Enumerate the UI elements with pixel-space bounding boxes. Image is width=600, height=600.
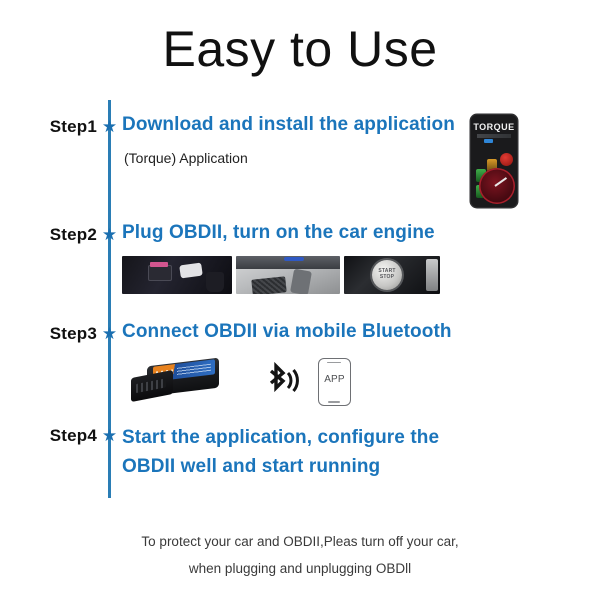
torque-main-dial <box>479 168 515 204</box>
obd-connector-plug <box>131 370 173 402</box>
step-subtext-1: (Torque) Application <box>124 150 248 166</box>
torque-gauge-red-small <box>500 153 513 166</box>
easy-to-use-infographic: Easy to Use ★ ★ ★ ★ Step1 Download and i… <box>0 0 600 600</box>
obd-label-text-lines <box>177 364 211 376</box>
console-cup-holder <box>206 272 224 292</box>
step-headline-1: Download and install the application <box>122 114 455 136</box>
obd-port-pink-tag <box>150 262 168 267</box>
star-icon: ★ <box>101 325 118 342</box>
car-obd-port-photo <box>122 256 232 294</box>
console-trim <box>426 259 438 291</box>
step-label-4: Step4 <box>0 426 97 446</box>
phone-app-label: APP <box>319 374 350 385</box>
page-title: Easy to Use <box>0 22 600 77</box>
step-headline-2: Plug OBDII, turn on the car engine <box>122 222 435 244</box>
start-stop-button-label: START STOP <box>372 268 402 280</box>
step-label-2: Step2 <box>0 225 97 245</box>
torque-app-name: TORQUE <box>471 122 517 132</box>
car-footwell-pedal-photo <box>236 256 340 294</box>
blue-light-accent <box>284 257 304 261</box>
star-icon: ★ <box>101 118 118 135</box>
torque-app-phone-image: TORQUE <box>471 115 517 207</box>
torque-badge <box>484 139 493 143</box>
start-stop-button-icon: START STOP <box>372 260 402 290</box>
footer-note: To protect your car and OBDII,Pleas turn… <box>0 528 600 582</box>
footer-line-2: when plugging and unplugging OBDll <box>0 555 600 582</box>
star-icon: ★ <box>101 226 118 243</box>
engine-start-stop-button-photo: START STOP <box>344 256 440 294</box>
step-label-3: Step3 <box>0 324 97 344</box>
step-headline-3: Connect OBDII via mobile Bluetooth <box>122 321 452 343</box>
obd-adapter-white <box>179 263 203 279</box>
phone-app-icon: APP <box>318 358 351 406</box>
obd-dongle-icon <box>131 360 219 402</box>
torque-tagline-bar <box>477 134 511 138</box>
accelerator-pedal <box>290 269 312 294</box>
obd-port-shape <box>148 265 172 281</box>
bluetooth-icon <box>259 360 301 402</box>
star-icon: ★ <box>101 427 118 444</box>
step-label-1: Step1 <box>0 117 97 137</box>
brake-pedal <box>251 276 286 294</box>
footer-line-1: To protect your car and OBDII,Pleas turn… <box>0 528 600 555</box>
step-headline-4: Start the application, configure the OBD… <box>122 423 472 482</box>
